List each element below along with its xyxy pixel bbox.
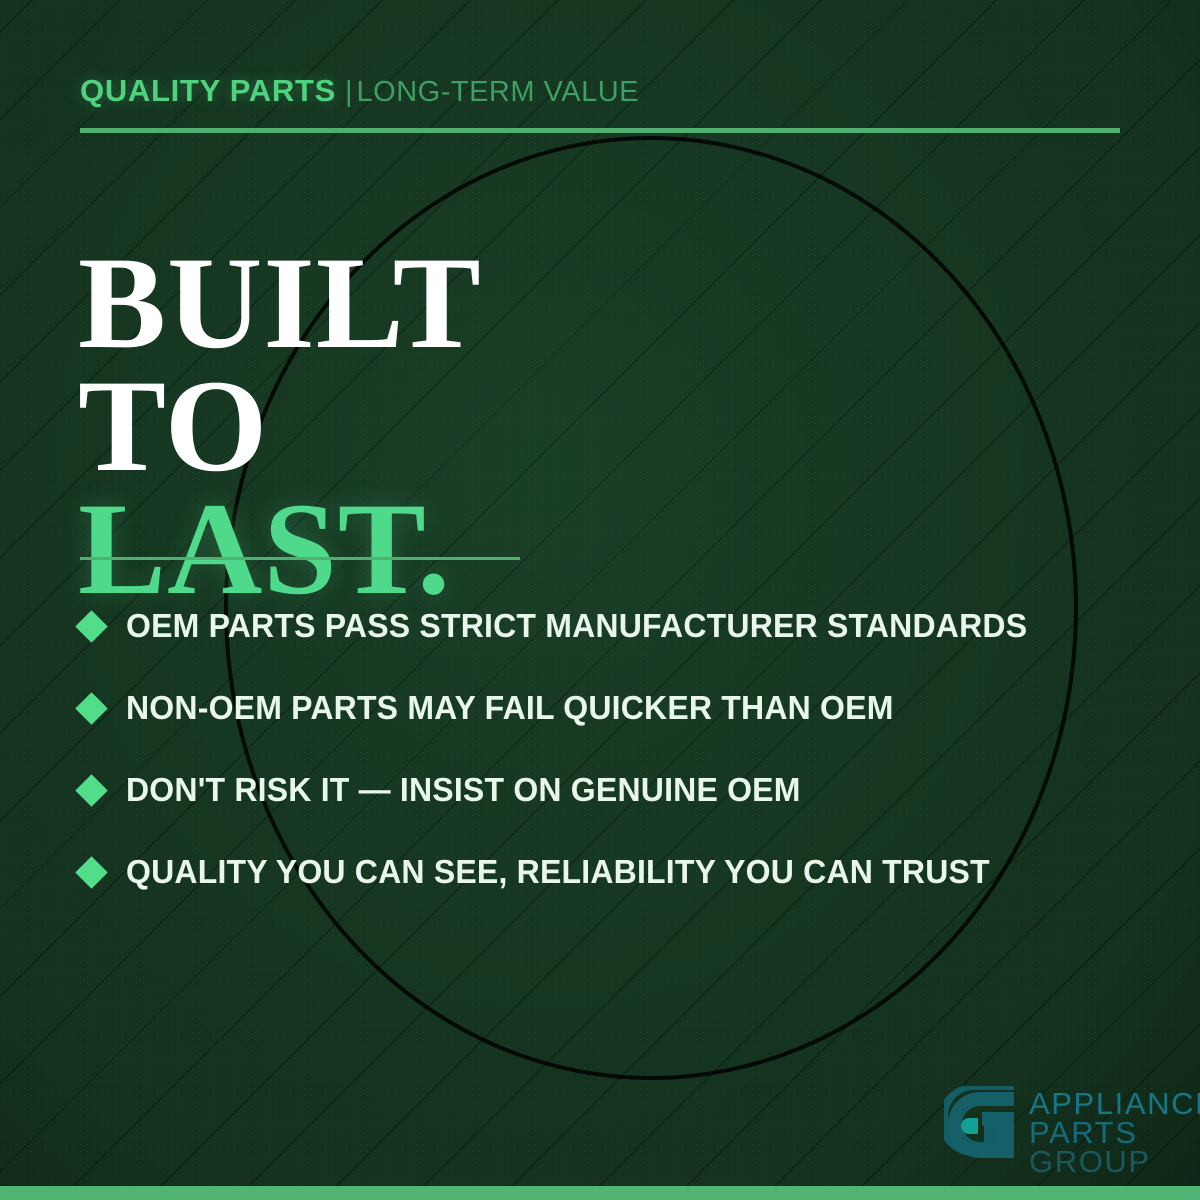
footer-accent-bar [0, 1186, 1200, 1200]
diamond-bullet-icon [75, 692, 108, 725]
brand-word-group: GROUP [1029, 1147, 1200, 1176]
poster-content: QUALITY PARTS|LONG-TERM VALUE BUILT TO L… [0, 0, 1200, 1200]
kicker-sub-label: LONG-TERM VALUE [357, 76, 640, 108]
list-item-label: OEM PARTS PASS STRICT MANUFACTURER STAND… [126, 607, 1027, 645]
promo-poster: QUALITY PARTS|LONG-TERM VALUE BUILT TO L… [0, 0, 1200, 1200]
benefits-list: OEM PARTS PASS STRICT MANUFACTURER STAND… [80, 585, 1150, 913]
headline-line-1: BUILT [78, 242, 482, 365]
list-item: QUALITY YOU CAN SEE, RELIABILITY YOU CAN… [80, 831, 1150, 913]
brand-logo: APPLIANCE PARTS GROUP [944, 1086, 1200, 1176]
g-monogram-icon [944, 1086, 1018, 1166]
kicker-eyebrow: QUALITY PARTS|LONG-TERM VALUE [80, 75, 639, 107]
top-divider-rule [80, 128, 1120, 133]
list-item-label: NON-OEM PARTS MAY FAIL QUICKER THAN OEM [126, 689, 894, 727]
list-item: OEM PARTS PASS STRICT MANUFACTURER STAND… [80, 585, 1150, 667]
page-title: BUILT TO LAST. [78, 242, 482, 610]
mid-divider-rule [80, 557, 520, 560]
brand-logo-wordmark: APPLIANCE PARTS GROUP [1029, 1086, 1200, 1176]
headline-line-2: TO [78, 365, 482, 488]
kicker-separator: | [345, 76, 353, 108]
kicker-main-label: QUALITY PARTS [80, 73, 336, 108]
list-item-label: QUALITY YOU CAN SEE, RELIABILITY YOU CAN… [126, 853, 990, 891]
list-item: NON-OEM PARTS MAY FAIL QUICKER THAN OEM [80, 667, 1150, 749]
diamond-bullet-icon [75, 856, 108, 889]
brand-word-parts: PARTS [1029, 1118, 1200, 1147]
diamond-bullet-icon [75, 610, 108, 643]
list-item-label: DON'T RISK IT — INSIST ON GENUINE OEM [126, 771, 801, 809]
brand-word-appliance: APPLIANCE [1029, 1089, 1200, 1118]
diamond-bullet-icon [75, 774, 108, 807]
list-item: DON'T RISK IT — INSIST ON GENUINE OEM [80, 749, 1150, 831]
